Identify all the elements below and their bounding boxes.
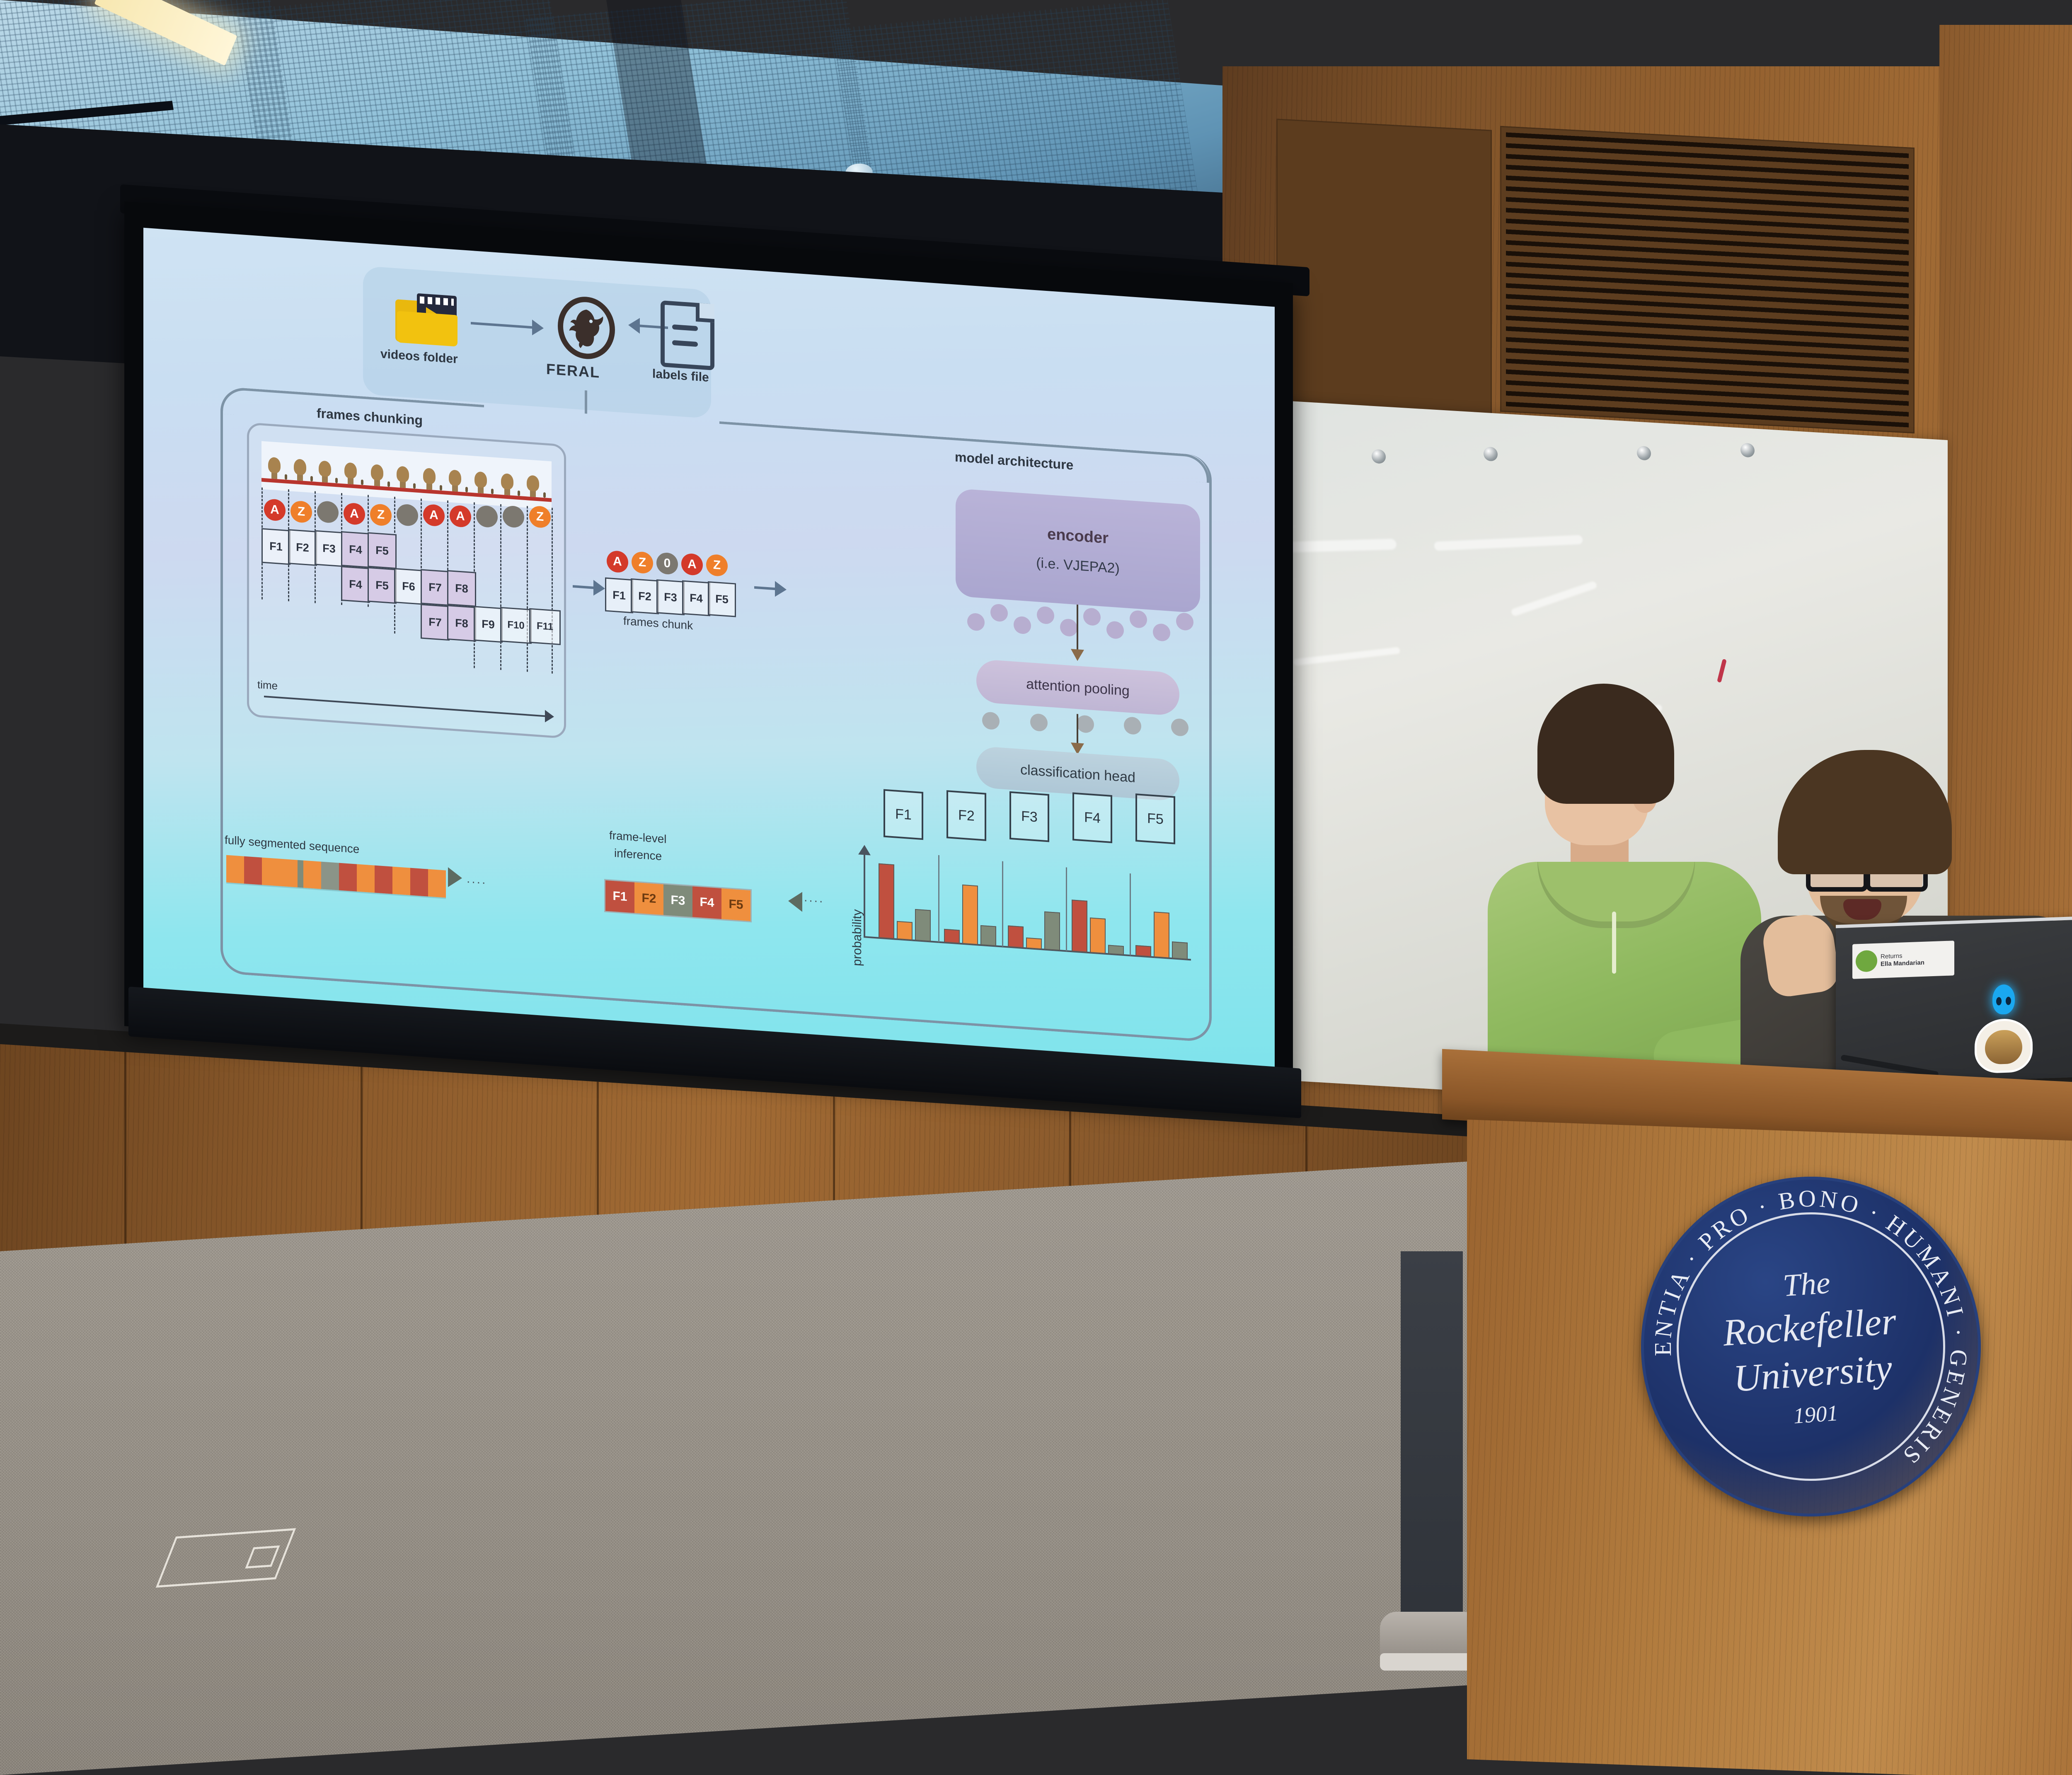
bar-F3-0b: [1044, 912, 1060, 951]
laptop[interactable]: Returns Ella Mandarian: [1836, 915, 2072, 1086]
bar-F3-0: [1026, 938, 1042, 950]
projector-screen: videos folder FERAL labels file: [124, 201, 1293, 1108]
alien-logo-icon: [1992, 984, 2015, 1015]
event-circle: [317, 501, 339, 524]
floor-box-cover: [156, 1528, 296, 1588]
frame-cell: F9: [474, 606, 503, 643]
owl-sticker-icon: [1977, 1020, 2031, 1072]
frame-cell: F5: [368, 567, 397, 604]
chunk-cell: F1: [605, 578, 633, 614]
bar-F5-Z: [1154, 912, 1169, 958]
event-circle: Z: [290, 500, 312, 523]
frame-cell: F4: [341, 566, 370, 603]
bar-F4-A: [1072, 900, 1087, 953]
time-axis-label: time: [257, 678, 278, 692]
event-circle: A: [423, 504, 445, 527]
probability-chart: F1 F2 F3 F4 F5 probability: [844, 786, 1208, 986]
feral-logo-icon: [558, 295, 615, 361]
inference-cell: F3: [663, 884, 692, 917]
time-axis: [264, 696, 546, 717]
frame-cell: F4: [341, 531, 370, 568]
frame-cell: F7: [421, 569, 450, 606]
inference-cell: F5: [721, 888, 750, 921]
videos-folder-icon: [395, 292, 457, 346]
frame-cell: F5: [368, 532, 397, 569]
encoder-block: encoder (i.e. VJEPA2): [956, 488, 1200, 613]
bar-F2-0: [980, 925, 996, 946]
bar-F1-0: [915, 909, 931, 942]
seal-year: 1901: [1792, 1400, 1839, 1428]
inference-cell: F2: [634, 882, 663, 915]
frame-cell: F6: [394, 568, 423, 605]
video-filmstrip: [261, 441, 552, 510]
chunk-cell: F5: [708, 581, 736, 617]
frame-cell: F8: [447, 570, 476, 607]
inference-cell: F1: [605, 880, 634, 913]
labels-file-icon: [661, 300, 714, 370]
chunk-cell: F3: [656, 579, 685, 615]
laptop-name-tag: Returns Ella Mandarian: [1852, 941, 1954, 979]
encoder-subtitle: (i.e. VJEPA2): [1036, 555, 1120, 577]
inference-cell: F4: [692, 886, 721, 919]
bar-F2-A: [944, 929, 960, 944]
event-circle: A: [344, 502, 365, 525]
rockefeller-university-seal: SCIENTIA · PRO · BONO · HUMANI · GENERIS…: [1629, 1165, 1992, 1528]
frame-cell: F11: [529, 608, 561, 645]
bar-F3-A: [1008, 925, 1024, 948]
seal-line-1: The: [1782, 1265, 1832, 1304]
event-circle: [503, 505, 524, 528]
presenter-leg: [1401, 1251, 1463, 1670]
connector-stem: [585, 390, 587, 414]
event-circle: Z: [370, 503, 392, 527]
chart-frame-box: F1: [884, 789, 923, 840]
arrow-inference-to-sequence: [448, 867, 462, 888]
ellipsis-right: ....: [804, 890, 824, 906]
event-circle: [397, 503, 418, 527]
name-tag-avatar-icon: [1856, 950, 1877, 972]
event-circle: [476, 505, 498, 528]
arrow-chart-to-inference: [788, 891, 802, 912]
chart-frame-box: F2: [946, 790, 986, 841]
chart-y-label: probability: [850, 890, 864, 986]
frames-chunking-panel: A Z A Z A A Z F1 F2 F3 F4 F5 F4 F5: [247, 422, 566, 739]
ellipsis-left: ....: [467, 872, 487, 887]
bar-F1-A: [879, 863, 894, 939]
chunk-cell: F4: [682, 580, 710, 617]
chart-frame-box: F5: [1135, 793, 1175, 844]
bar-F4-Z: [1090, 917, 1106, 954]
frame-cell: F8: [447, 605, 476, 642]
chunk-cell: F2: [631, 578, 659, 614]
bar-F2-Z: [962, 885, 978, 945]
arrow-encoder-to-pooling: [1077, 605, 1078, 650]
chart-frame-box: F4: [1072, 792, 1112, 843]
event-circle: A: [264, 498, 286, 522]
bar-F4-0: [1108, 945, 1124, 955]
encoder-title: encoder: [1047, 525, 1109, 547]
attention-pooling-label: attention pooling: [1026, 676, 1130, 699]
arrow-pooling-to-head: [1077, 714, 1078, 744]
bar-F5-A: [1135, 945, 1151, 957]
chart-frame-box: F3: [1009, 791, 1049, 842]
lecture-hall-photo: videos folder FERAL labels file: [0, 0, 2072, 1775]
presentation-slide: videos folder FERAL labels file: [143, 228, 1275, 1069]
speaker-grille: [1500, 126, 1915, 433]
frame-cell: F10: [500, 607, 532, 644]
event-circle: A: [450, 505, 471, 528]
bar-F1-Z: [897, 921, 913, 941]
seal-line-2: Rockefeller: [1721, 1299, 1898, 1354]
seal-line-3: University: [1732, 1345, 1894, 1400]
frame-cell: F2: [288, 529, 317, 566]
classification-head-label: classification head: [1020, 762, 1135, 786]
frame-cell: F7: [421, 604, 450, 641]
feral-label: FERAL: [546, 360, 600, 382]
name-tag-line-2: Ella Mandarian: [1881, 959, 1924, 968]
bar-F5-0: [1172, 941, 1188, 960]
frame-cell: F1: [261, 528, 290, 565]
frame-cell: F3: [315, 530, 344, 567]
